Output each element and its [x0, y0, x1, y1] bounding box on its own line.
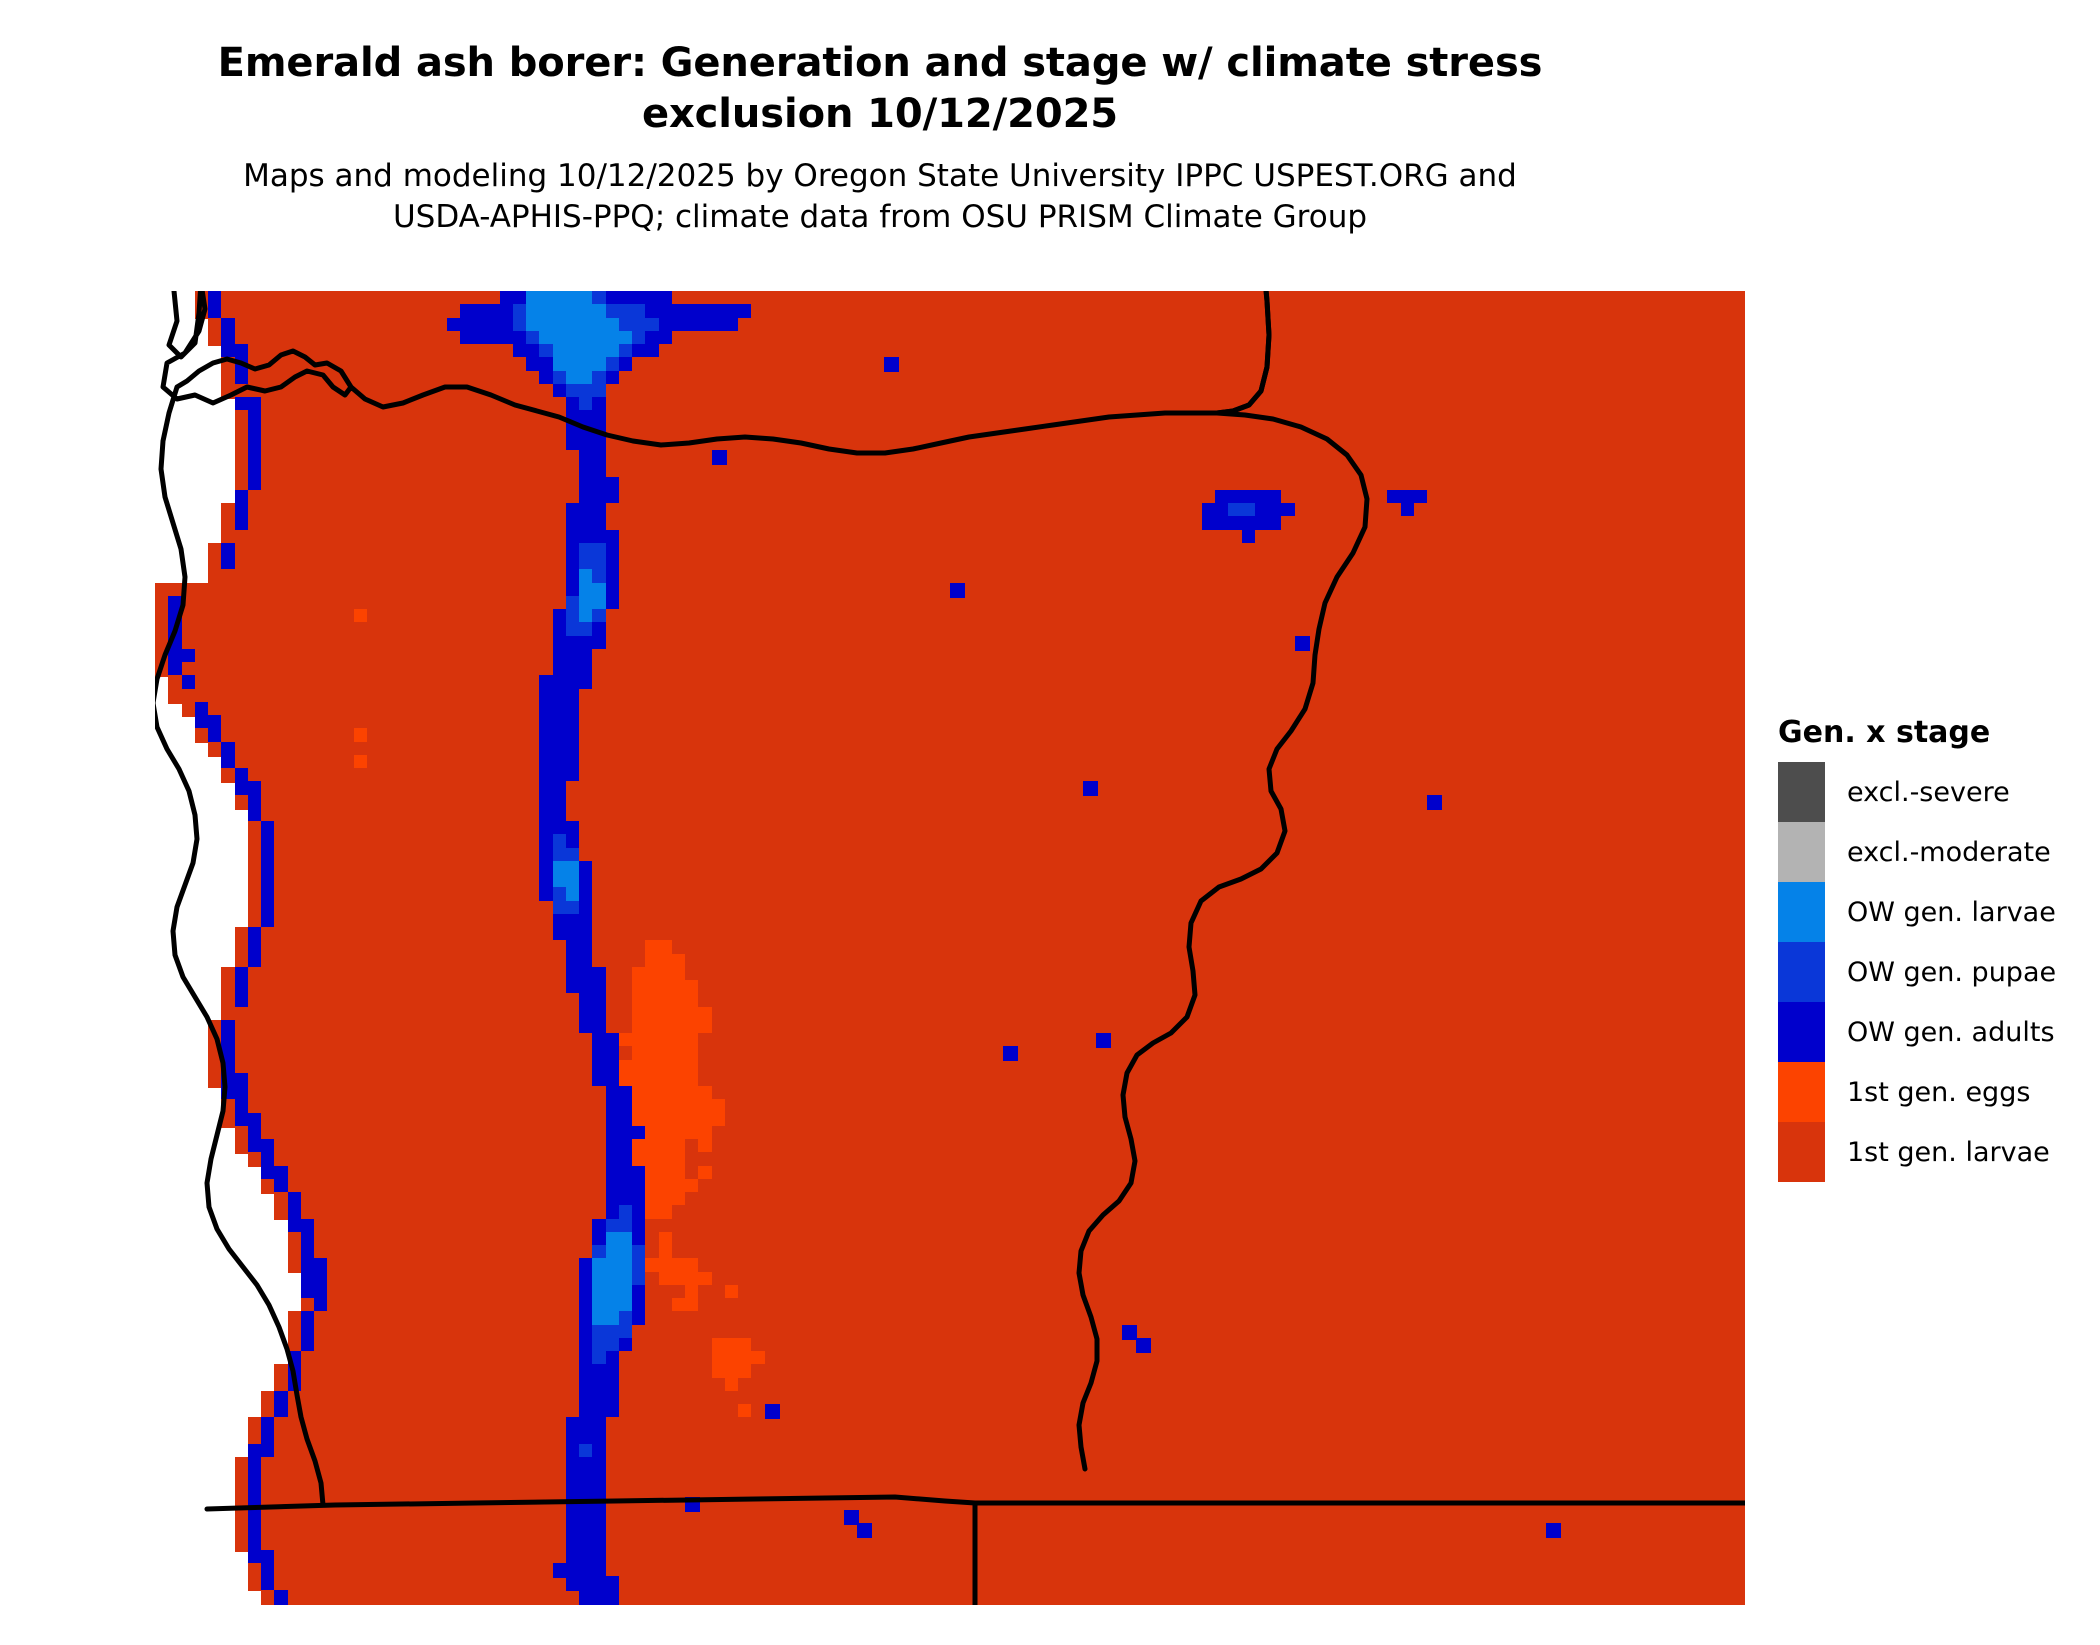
legend-swatch-excl-severe: [1778, 762, 1825, 822]
page-title: Emerald ash borer: Generation and stage …: [60, 38, 1700, 140]
legend-item-ow-gen-larvae[interactable]: OW gen. larvae: [1778, 882, 2088, 942]
legend-label-1st-gen-larvae: 1st gen. larvae: [1847, 1137, 2050, 1168]
legend: Gen. x stage excl.-severe excl.-moderate…: [1778, 715, 2088, 1182]
legend-label-ow-gen-larvae: OW gen. larvae: [1847, 897, 2056, 928]
legend-title: Gen. x stage: [1778, 715, 2088, 750]
legend-item-1st-gen-larvae[interactable]: 1st gen. larvae: [1778, 1122, 2088, 1182]
title-block: Emerald ash borer: Generation and stage …: [0, 38, 1760, 237]
legend-item-excl-moderate[interactable]: excl.-moderate: [1778, 822, 2088, 882]
legend-swatch-ow-gen-adults: [1778, 1002, 1825, 1062]
legend-swatch-ow-gen-larvae: [1778, 882, 1825, 942]
legend-swatch-excl-moderate: [1778, 822, 1825, 882]
legend-swatch-1st-gen-eggs: [1778, 1062, 1825, 1122]
legend-item-excl-severe[interactable]: excl.-severe: [1778, 762, 2088, 822]
legend-swatch-ow-gen-pupae: [1778, 942, 1825, 1002]
figure-page: Emerald ash borer: Generation and stage …: [0, 0, 2100, 1645]
legend-item-ow-gen-pupae[interactable]: OW gen. pupae: [1778, 942, 2088, 1002]
legend-label-excl-severe: excl.-severe: [1847, 777, 2010, 808]
legend-item-ow-gen-adults[interactable]: OW gen. adults: [1778, 1002, 2088, 1062]
map-plot-area[interactable]: [155, 291, 1745, 1605]
legend-item-1st-gen-eggs[interactable]: 1st gen. eggs: [1778, 1062, 2088, 1122]
legend-label-excl-moderate: excl.-moderate: [1847, 837, 2051, 868]
legend-label-ow-gen-pupae: OW gen. pupae: [1847, 957, 2056, 988]
map-raster-layer: [155, 291, 1745, 1605]
legend-swatch-1st-gen-larvae: [1778, 1122, 1825, 1182]
legend-label-ow-gen-adults: OW gen. adults: [1847, 1017, 2055, 1048]
page-subtitle: Maps and modeling 10/12/2025 by Oregon S…: [70, 156, 1690, 237]
legend-label-1st-gen-eggs: 1st gen. eggs: [1847, 1077, 2030, 1108]
